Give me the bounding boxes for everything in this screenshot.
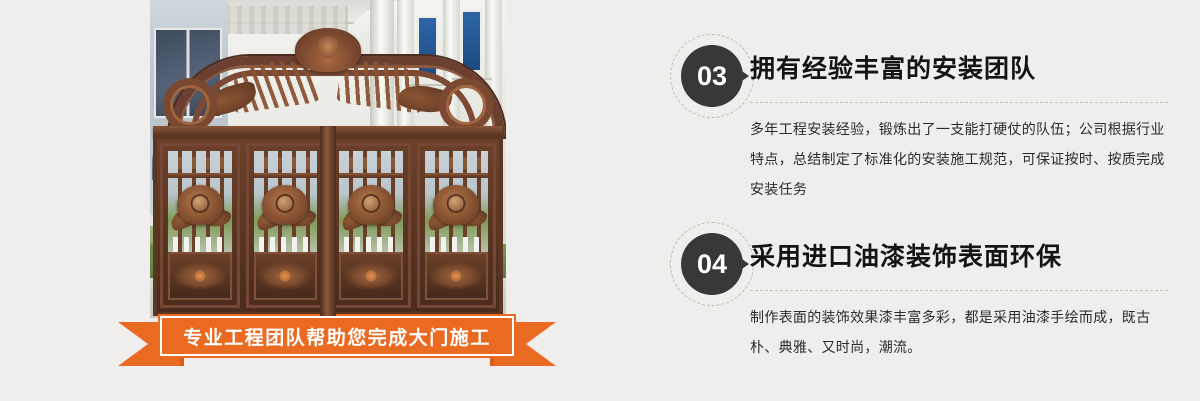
feature-body-text: 多年工程安装经验，锻炼出了一支能打硬仗的队伍；公司根据行业特点，总结制定了标准化…	[750, 114, 1170, 204]
gate-leaf-base-ornament	[429, 262, 483, 290]
ribbon-banner: 专业工程团队帮助您完成大门施工	[118, 314, 556, 366]
gate-leaf-base-panel	[425, 252, 489, 300]
gate-leaf-grille	[339, 151, 403, 263]
gate-leaf	[417, 143, 497, 308]
gate-leaf-base-panel	[254, 252, 318, 300]
gate-crown-ornament	[169, 28, 487, 128]
feature-badge-04: 04	[670, 222, 754, 306]
gate-leaf-base-panel	[339, 252, 403, 300]
gate-leaf-medallion	[348, 185, 394, 225]
product-photo	[150, 0, 506, 318]
badge-number: 03	[697, 63, 727, 90]
gate-leaf-medallion	[262, 185, 308, 225]
feature-divider	[750, 290, 1168, 291]
gate-crown-finial	[295, 28, 361, 72]
gate-leaf-base-ornament	[258, 262, 312, 290]
badge-number: 04	[697, 251, 727, 278]
gate-crown-scroll-right	[439, 78, 493, 132]
ribbon-body: 专业工程团队帮助您完成大门施工	[158, 314, 516, 358]
badge-disc: 04	[681, 233, 743, 295]
gate-leaf	[160, 143, 240, 308]
gate-leaf-rail	[254, 173, 318, 178]
gate-leaf-base-ornament	[173, 262, 227, 290]
gate-leaf	[246, 143, 326, 308]
gate-center-post	[320, 126, 336, 316]
gate-leaf-grille	[425, 151, 489, 263]
gate-leaf-grille	[254, 151, 318, 263]
feature-divider	[750, 102, 1168, 103]
feature-list: 03 拥有经验丰富的安装团队 多年工程安装经验，锻炼出了一支能打硬仗的队伍；公司…	[660, 0, 1200, 401]
badge-disc: 03	[681, 45, 743, 107]
gate-leaf-base-ornament	[344, 262, 398, 290]
gate-leaf-bars-top	[425, 157, 489, 169]
gate-leaf-rail	[425, 173, 489, 178]
gate-leaf-bars-top	[339, 157, 403, 169]
gate-leaf-base-panel	[168, 252, 232, 300]
feature-title: 采用进口油漆装饰表面环保	[750, 237, 1062, 273]
gate-leaf-medallion	[433, 185, 479, 225]
gate-leaf-rail	[168, 173, 232, 178]
gate-leaf-rail	[339, 173, 403, 178]
ribbon-label: 专业工程团队帮助您完成大门施工	[183, 323, 491, 350]
gate-leaf	[331, 143, 411, 308]
feature-body-text: 制作表面的装饰效果漆丰富多彩，都是采用油漆手绘而成，既古朴、典雅、又时尚，潮流。	[750, 302, 1170, 362]
gate-leaf-bars-top	[168, 157, 232, 169]
bronze-gate	[153, 90, 503, 316]
gate-leaf-grille	[168, 151, 232, 263]
gate-leaf-bars-top	[254, 157, 318, 169]
feature-badge-03: 03	[670, 34, 754, 118]
gate-crown-scroll-left	[163, 78, 217, 132]
gate-leaf-medallion	[177, 185, 223, 225]
feature-title: 拥有经验丰富的安装团队	[750, 49, 1036, 85]
